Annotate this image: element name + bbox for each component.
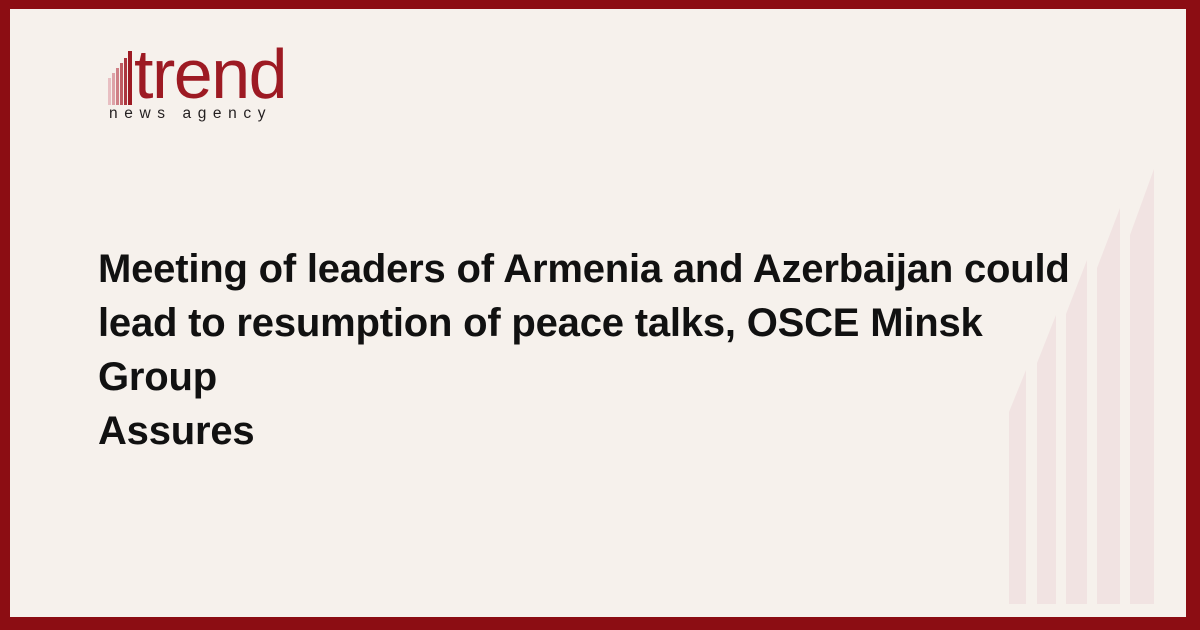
card-canvas: trend news agency Meeting of leaders of … [10, 9, 1186, 617]
decorative-bar [1130, 169, 1154, 604]
social-share-card: trend news agency Meeting of leaders of … [0, 0, 1200, 630]
page-title: Meeting of leaders of Armenia and Azerba… [98, 242, 1078, 458]
decorative-bar-slant [1130, 169, 1154, 235]
logo-bar [112, 73, 115, 105]
logo-bar [128, 51, 132, 105]
logo-bar [116, 68, 119, 105]
headline-line: Meeting of leaders of Armenia and Azerba… [98, 242, 1078, 296]
headline-line: Assures [98, 404, 1078, 458]
logo-bar [120, 63, 123, 105]
headline-line: lead to resumption of peace talks, OSCE … [98, 296, 1078, 404]
logo-wordmark-row: trend [98, 45, 358, 111]
decorative-bar [1097, 208, 1120, 604]
decorative-bar-slant [1097, 208, 1120, 268]
trend-news-agency-logo[interactable]: trend news agency [98, 45, 358, 141]
logo-tagline: news agency [109, 105, 272, 123]
logo-bar [124, 58, 127, 105]
logo-wordmark-text: trend [134, 39, 286, 109]
logo-bar [108, 78, 111, 105]
